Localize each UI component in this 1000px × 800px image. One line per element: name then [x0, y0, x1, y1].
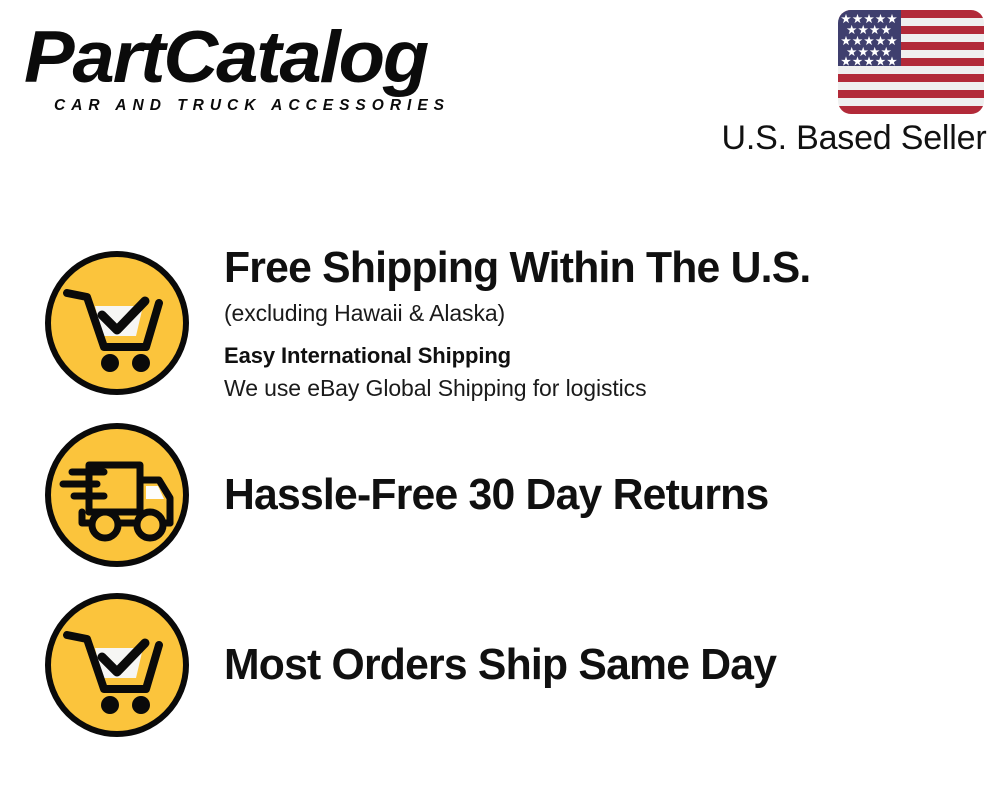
us-based-seller-label: U.S. Based Seller: [718, 118, 990, 158]
brand-wordmark: PartCatalog: [24, 20, 513, 96]
feature-subtitle-strong: Easy International Shipping: [224, 341, 980, 371]
feature-text-block: Hassle-Free 30 Day Returns: [224, 470, 1000, 520]
brand-tagline: CAR AND TRUCK ACCESSORIES: [54, 97, 494, 115]
shopping-cart-check-icon: [42, 248, 192, 398]
brand-logo: PartCatalog CAR AND TRUCK ACCESSORIES: [24, 20, 494, 120]
feature-title: Free Shipping Within The U.S.: [224, 243, 957, 293]
us-flag-icon: [838, 10, 984, 114]
feature-row: Hassle-Free 30 Day Returns: [0, 420, 1000, 570]
delivery-truck-icon: [42, 420, 192, 570]
feature-row: Free Shipping Within The U.S. (excluding…: [0, 248, 1000, 398]
feature-title: Most Orders Ship Same Day: [224, 640, 957, 690]
feature-text-block: Most Orders Ship Same Day: [224, 640, 1000, 690]
feature-subtitle-plain: We use eBay Global Shipping for logistic…: [224, 372, 980, 404]
shopping-cart-check-icon: [42, 590, 192, 740]
feature-text-block: Free Shipping Within The U.S. (excluding…: [224, 243, 1000, 404]
feature-row: Most Orders Ship Same Day: [0, 590, 1000, 740]
feature-title: Hassle-Free 30 Day Returns: [224, 470, 957, 520]
feature-subtitle: (excluding Hawaii & Alaska): [224, 297, 980, 329]
shipping-info-banner: PartCatalog CAR AND TRUCK ACCESSORIES: [0, 0, 1000, 800]
